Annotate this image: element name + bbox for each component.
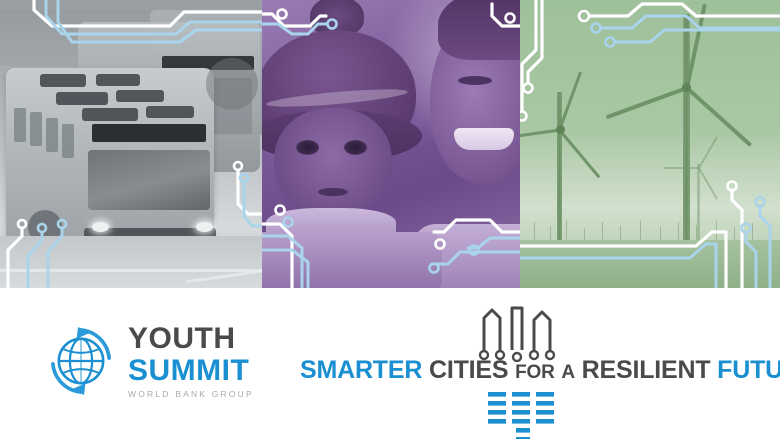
tagline-word-resilient: RESILIENT <box>582 356 711 384</box>
youth-summit-logo: YOUTH SUMMIT WORLD BANK GROUP <box>44 324 254 399</box>
tagline-word-a: A <box>561 362 575 383</box>
panel-mother-and-child <box>262 0 520 288</box>
tagline-word-cities: CITIES <box>429 356 508 384</box>
world-bank-globe-icon <box>44 324 118 398</box>
city-skyline-icon <box>478 304 564 362</box>
youth-summit-banner: YOUTH SUMMIT WORLD BANK GROUP <box>0 0 780 439</box>
data-bars-icon <box>486 392 556 439</box>
logo-org-name: WORLD BANK GROUP <box>128 390 254 399</box>
bus-photo <box>0 0 262 288</box>
logo-line-summit: SUMMIT <box>128 356 254 386</box>
logo-line-youth: YOUTH <box>128 324 254 354</box>
tagline-word-for: FOR <box>515 362 555 383</box>
logo-footer: YOUTH SUMMIT WORLD BANK GROUP <box>0 288 780 439</box>
panel-bus-rapid-transit <box>0 0 262 288</box>
tagline-lockup: SMARTER CITIES FOR A RESILIENT FUTURE <box>300 304 750 429</box>
panel-wind-turbines <box>520 0 780 288</box>
wind-farm-photo <box>520 0 780 288</box>
tagline-word-smarter: SMARTER <box>300 356 422 384</box>
tagline-word-future: FUTURE <box>717 356 780 384</box>
tagline-text: SMARTER CITIES FOR A RESILIENT FUTURE <box>300 356 750 385</box>
mother-child-photo <box>262 0 520 288</box>
hero-image-band <box>0 0 780 288</box>
